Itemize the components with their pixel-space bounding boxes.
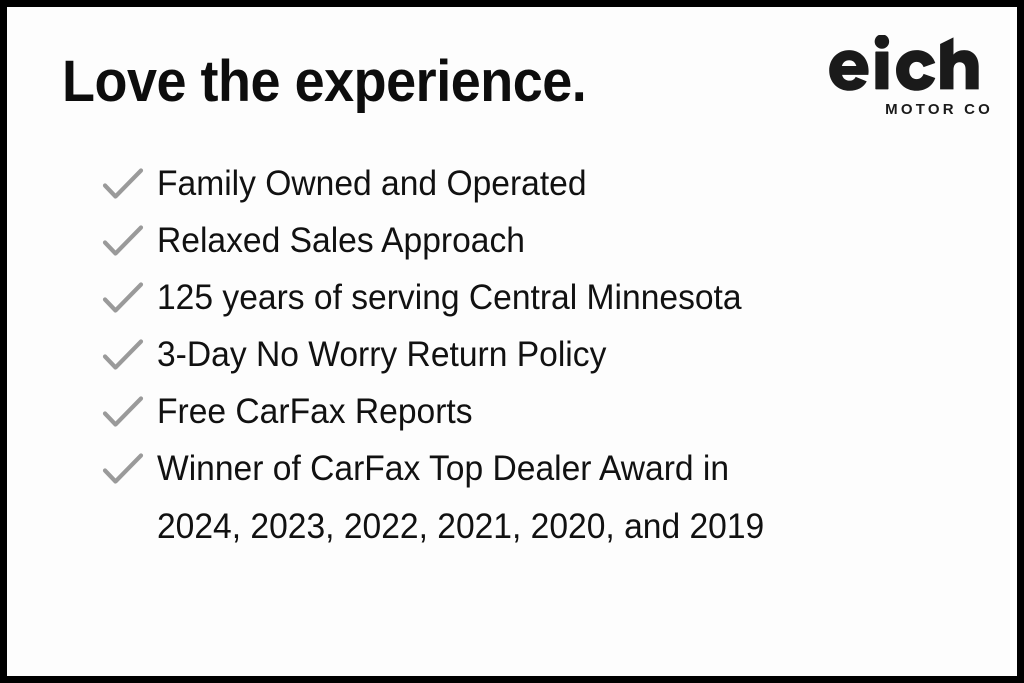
- benefits-list: Family Owned and Operated Relaxed Sales …: [7, 155, 1017, 557]
- list-item-label: Winner of CarFax Top Dealer Award in: [157, 449, 729, 489]
- list-item-label: Free CarFax Reports: [157, 392, 473, 432]
- page-title: Love the experience.: [62, 51, 586, 113]
- list-item: 125 years of serving Central Minnesota: [7, 269, 1017, 326]
- logo-subtitle: MOTOR CO: [815, 101, 995, 118]
- list-item: 3-Day No Worry Return Policy: [7, 326, 1017, 383]
- checkmark-icon: [102, 167, 144, 201]
- list-item: Family Owned and Operated: [7, 155, 1017, 212]
- list-item: Winner of CarFax Top Dealer Award in: [7, 440, 1017, 497]
- checkmark-icon: [102, 338, 144, 372]
- list-item-continuation: 2024, 2023, 2022, 2021, 2020, and 2019: [7, 497, 1017, 557]
- list-item-label: 125 years of serving Central Minnesota: [157, 278, 742, 318]
- checkmark-icon: [102, 224, 144, 258]
- checkmark-icon: [102, 452, 144, 486]
- card-header: Love the experience. MOTOR CO: [7, 7, 1017, 147]
- list-item: Free CarFax Reports: [7, 383, 1017, 440]
- list-item: Relaxed Sales Approach: [7, 212, 1017, 269]
- list-item-label: 3-Day No Worry Return Policy: [157, 335, 606, 375]
- list-item-label: Relaxed Sales Approach: [157, 221, 525, 261]
- checkmark-icon: [102, 281, 144, 315]
- eich-wordmark-icon: [815, 35, 995, 97]
- list-item-label: 2024, 2023, 2022, 2021, 2020, and 2019: [157, 507, 764, 547]
- dealer-logo: MOTOR CO: [815, 35, 995, 118]
- checkmark-icon: [102, 395, 144, 429]
- list-item-label: Family Owned and Operated: [157, 164, 587, 204]
- promo-card: Love the experience. MOTOR CO: [0, 0, 1024, 683]
